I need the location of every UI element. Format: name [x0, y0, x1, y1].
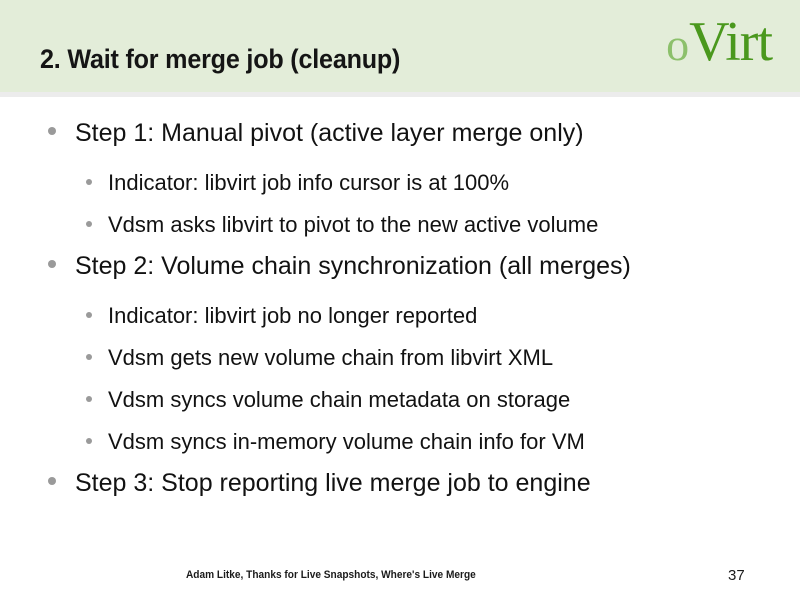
slide-title: 2. Wait for merge job (cleanup)	[40, 44, 400, 75]
bullet-item: Step 3: Stop reporting live merge job to…	[48, 469, 591, 498]
bullet-item: Step 2: Volume chain synchronization (al…	[48, 252, 631, 281]
slide-page-number: 37	[728, 567, 745, 584]
bullet-label: Step 2: Volume chain synchronization (al…	[75, 252, 631, 281]
bullet-dot-icon	[86, 221, 92, 227]
presentation-slide: 2. Wait for merge job (cleanup) oVirt St…	[0, 0, 800, 600]
bullet-dot-icon	[86, 179, 92, 185]
bullet-item: Vdsm asks libvirt to pivot to the new ac…	[86, 212, 598, 238]
bullet-label: Vdsm asks libvirt to pivot to the new ac…	[108, 212, 598, 238]
ovirt-logo-virt-text: Virt	[689, 11, 772, 73]
bullet-label: Vdsm syncs volume chain metadata on stor…	[108, 387, 570, 413]
bullet-dot-icon	[48, 477, 56, 485]
ovirt-logo-o-letter: o	[666, 19, 689, 70]
bullet-label: Indicator: libvirt job no longer reporte…	[108, 303, 477, 329]
bullet-item: Vdsm syncs volume chain metadata on stor…	[86, 387, 570, 413]
bullet-dot-icon	[48, 260, 56, 268]
bullet-item: Step 1: Manual pivot (active layer merge…	[48, 119, 584, 148]
bullet-label: Indicator: libvirt job info cursor is at…	[108, 170, 509, 196]
bullet-label: Vdsm gets new volume chain from libvirt …	[108, 345, 553, 371]
bullet-dot-icon	[86, 312, 92, 318]
footer-attribution: Adam Litke, Thanks for Live Snapshots, W…	[186, 569, 476, 581]
bullet-dot-icon	[86, 438, 92, 444]
bullet-label: Step 3: Stop reporting live merge job to…	[75, 469, 591, 498]
bullet-item: Indicator: libvirt job info cursor is at…	[86, 170, 509, 196]
bullet-dot-icon	[86, 354, 92, 360]
ovirt-logo: oVirt	[666, 14, 772, 70]
bullet-item: Vdsm syncs in-memory volume chain info f…	[86, 429, 585, 455]
bullet-item: Indicator: libvirt job no longer reporte…	[86, 303, 477, 329]
bullet-dot-icon	[86, 396, 92, 402]
bullet-item: Vdsm gets new volume chain from libvirt …	[86, 345, 553, 371]
bullet-label: Vdsm syncs in-memory volume chain info f…	[108, 429, 585, 455]
bullet-label: Step 1: Manual pivot (active layer merge…	[75, 119, 584, 148]
slide-body: Step 1: Manual pivot (active layer merge…	[0, 97, 800, 547]
bullet-dot-icon	[48, 127, 56, 135]
